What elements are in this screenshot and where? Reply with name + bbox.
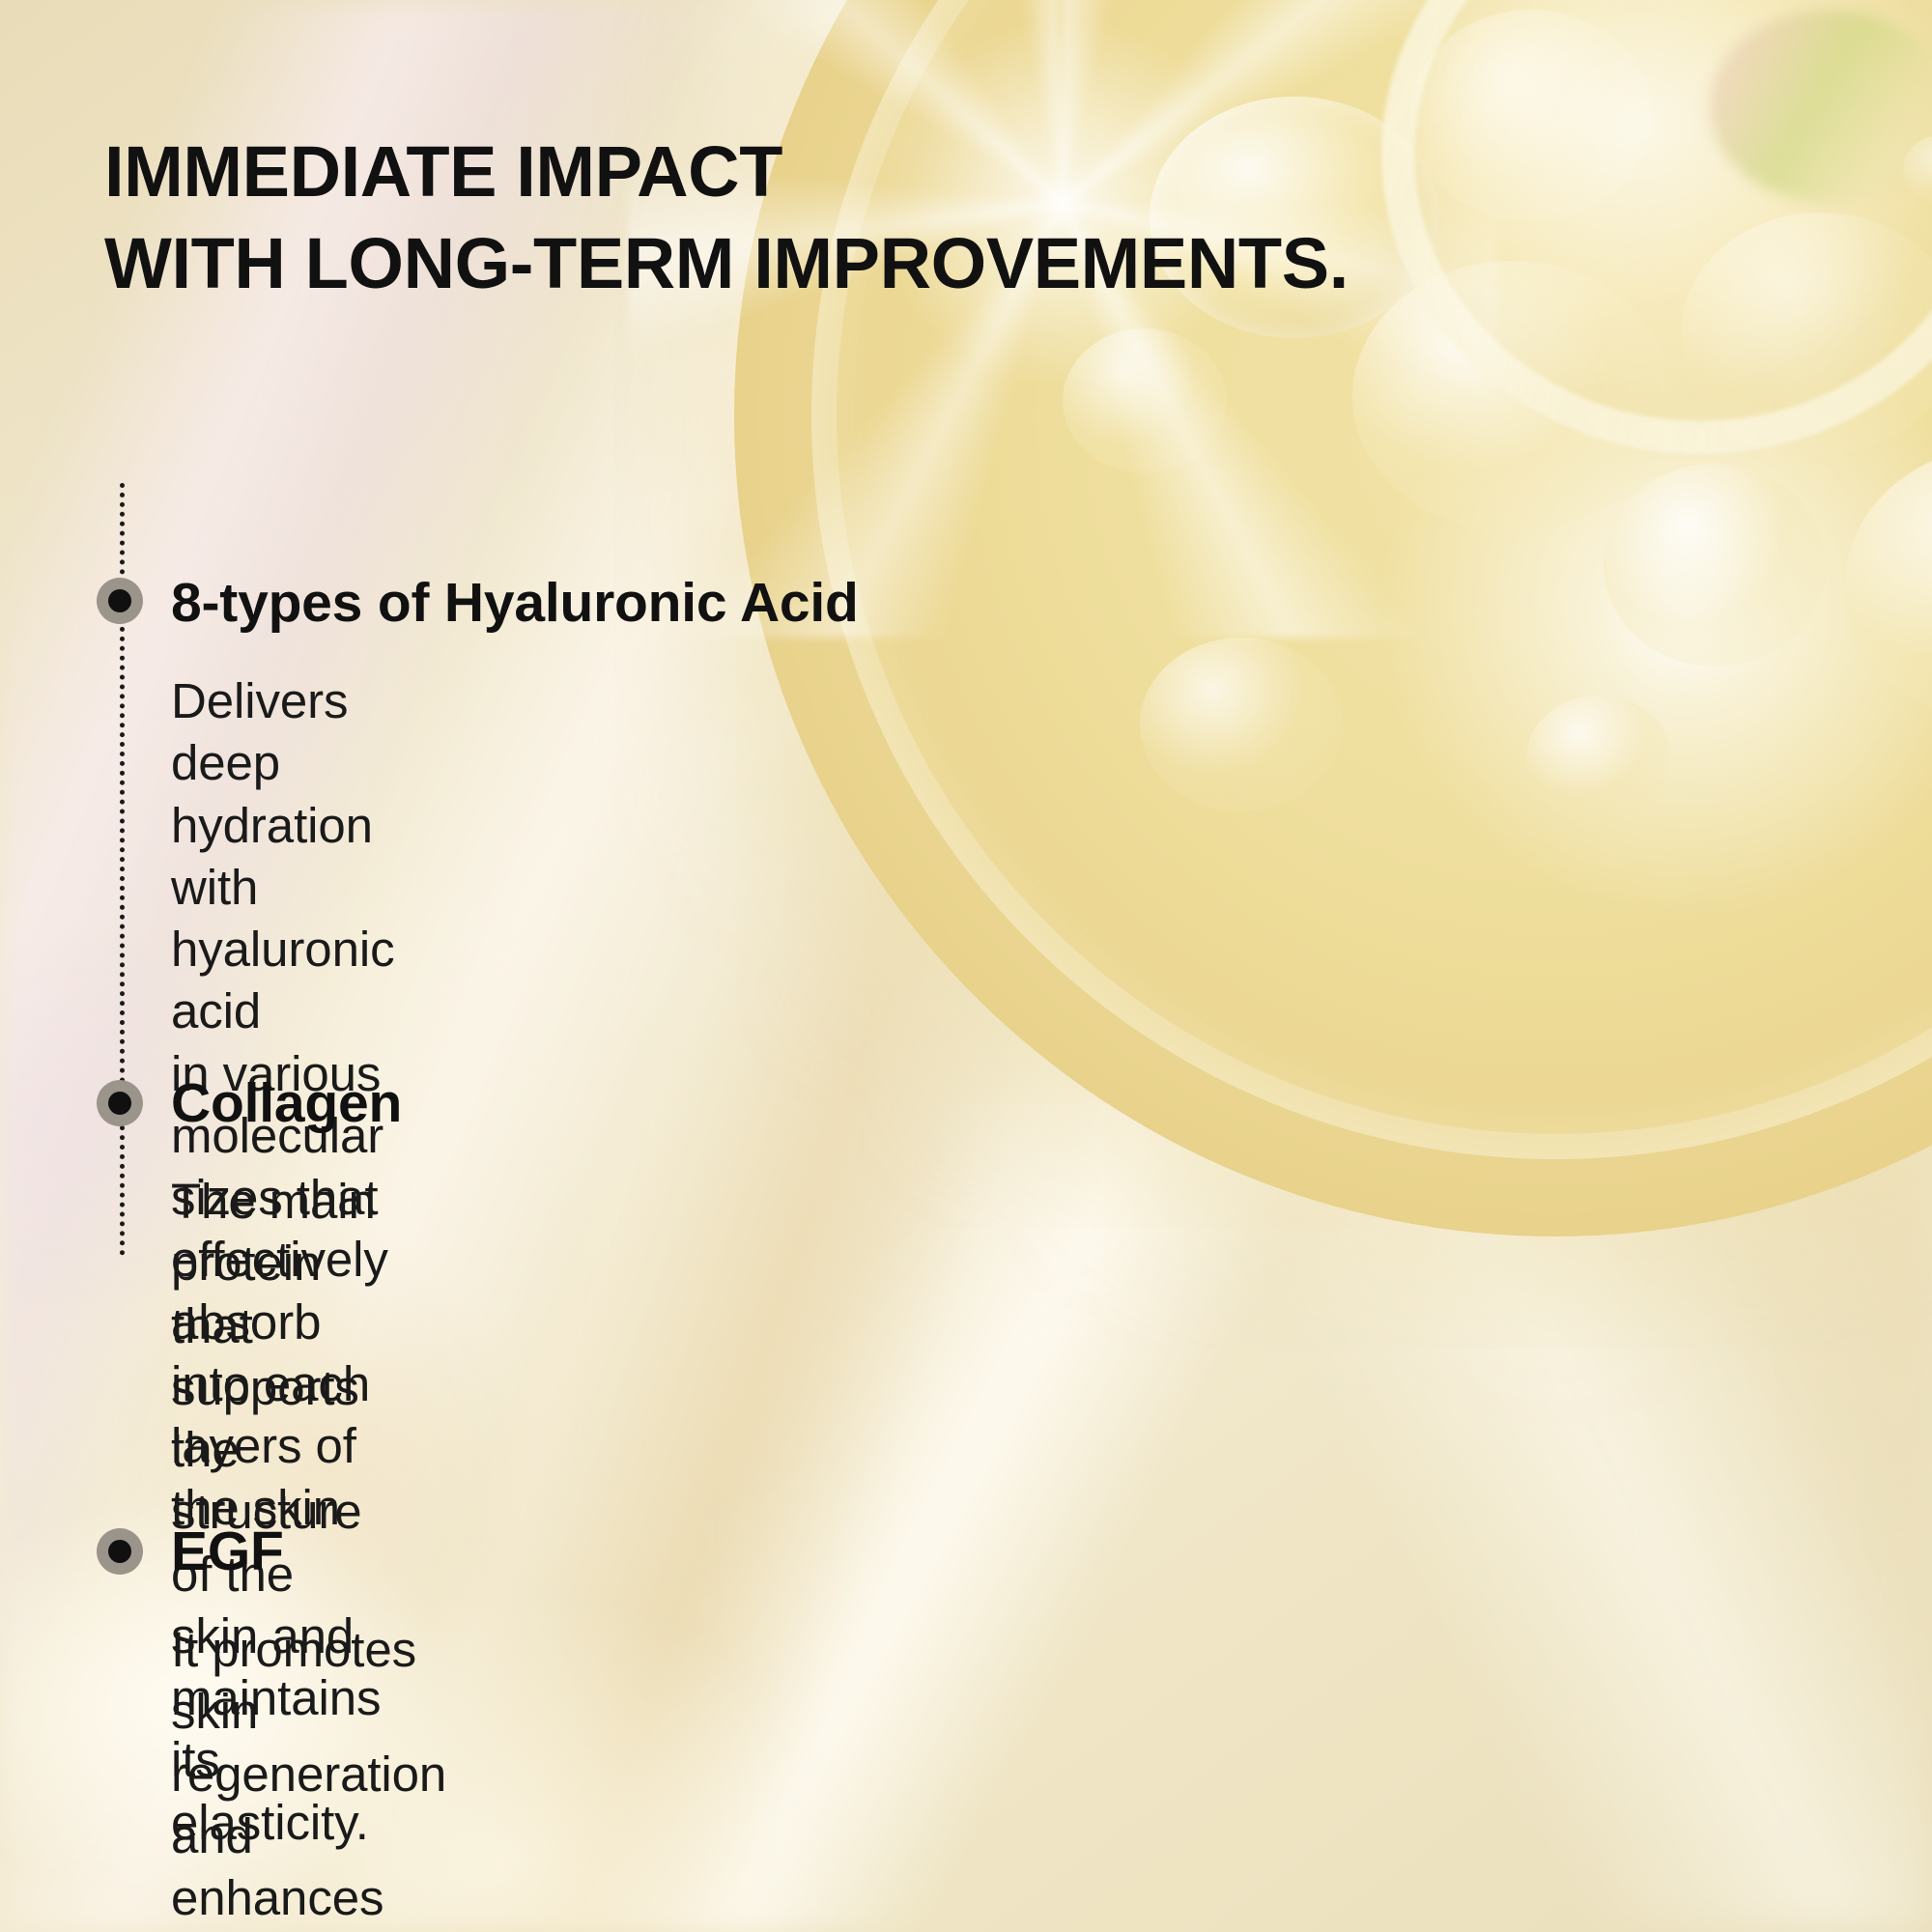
- bullet-dot-icon: [97, 578, 143, 624]
- page-title: IMMEDIATE IMPACT WITH LONG-TERM IMPROVEM…: [104, 127, 1611, 309]
- benefit-title: EGF: [171, 1524, 284, 1579]
- benefit-title: Collagen: [171, 1076, 402, 1131]
- bullet-dot-icon: [97, 1080, 143, 1126]
- infographic-canvas: IMMEDIATE IMPACT WITH LONG-TERM IMPROVEM…: [0, 0, 1932, 1932]
- bullet-dot-icon: [97, 1528, 143, 1575]
- content-layer: IMMEDIATE IMPACT WITH LONG-TERM IMPROVEM…: [0, 0, 1932, 1932]
- benefit-description: It promotes skin regeneration and enhanc…: [171, 1619, 469, 1932]
- benefit-title: 8-types of Hyaluronic Acid: [171, 576, 859, 631]
